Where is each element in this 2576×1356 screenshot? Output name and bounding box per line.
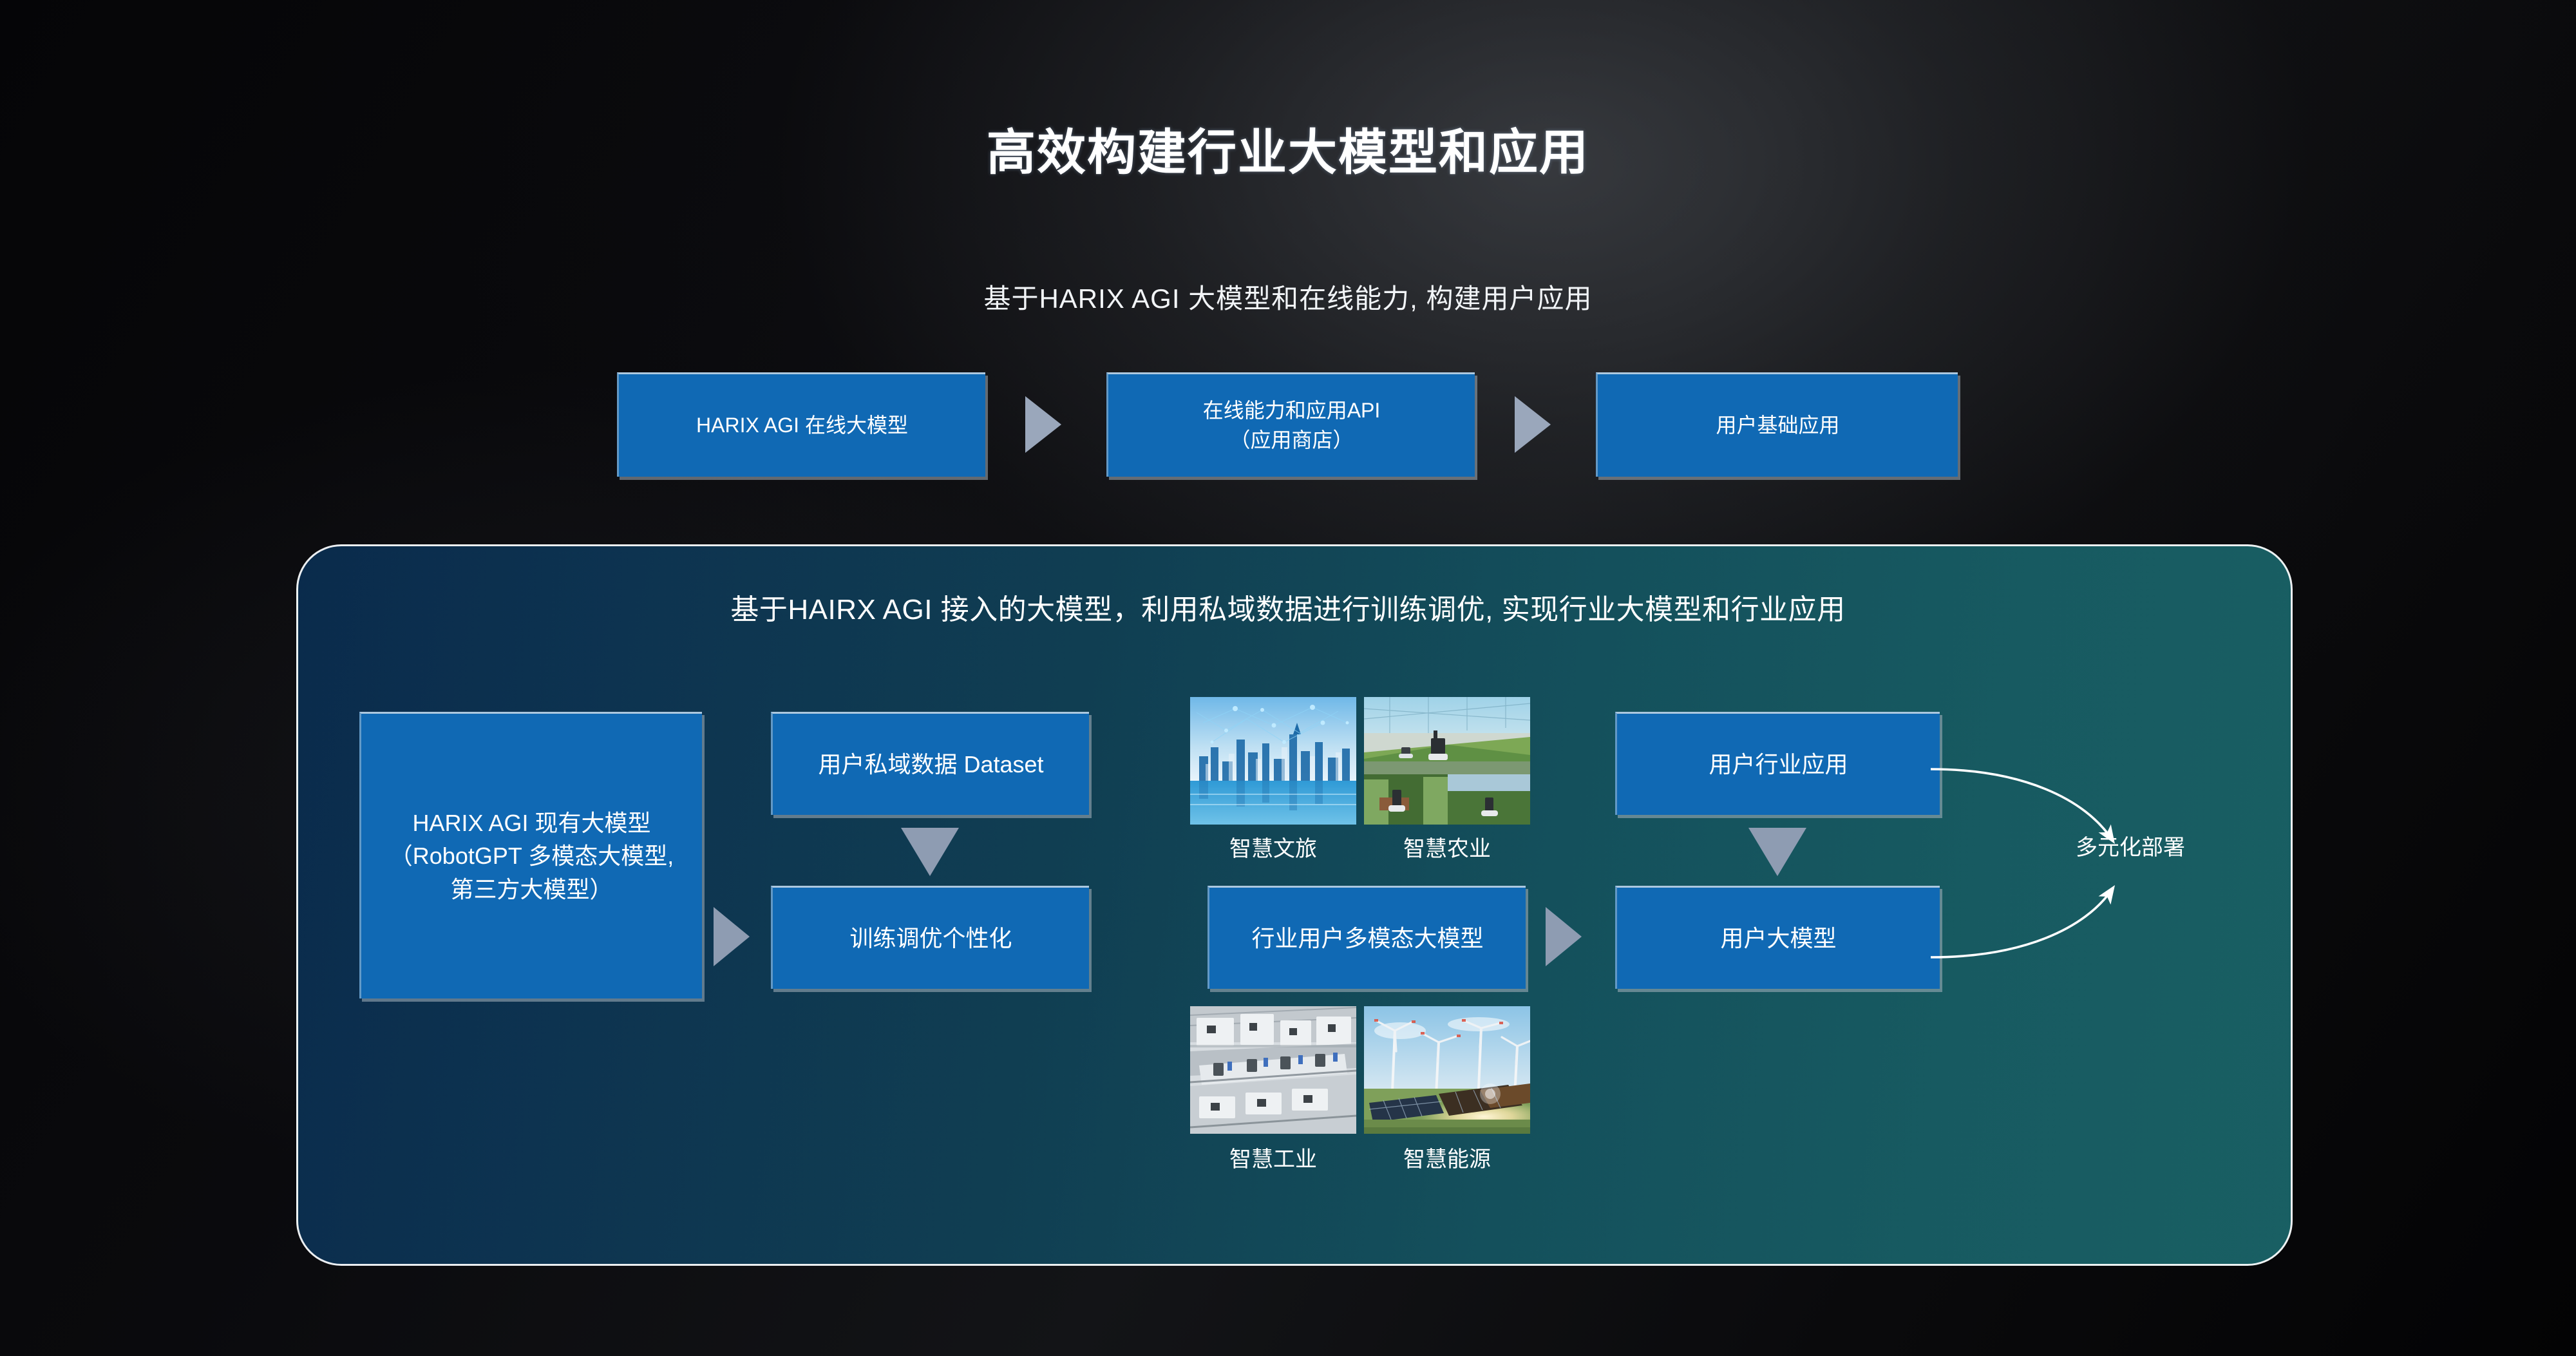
thumbnail-caption-energy: 智慧能源 [1351, 1141, 1543, 1173]
thumbnail-caption-travel: 智慧文旅 [1177, 831, 1369, 863]
top-flow-box-harix-online-model[interactable]: HARIX AGI 在线大模型 [617, 372, 985, 477]
top-flow-box-1-label: HARIX AGI 在线大模型 [696, 411, 908, 440]
slide-canvas: 高效构建行业大模型和应用 基于HARIX AGI 大模型和在线能力, 构建用户应… [0, 0, 2576, 1356]
panel-box-training-tuning[interactable]: 训练调优个性化 [771, 886, 1089, 989]
top-flow-box-user-base-app[interactable]: 用户基础应用 [1596, 372, 1958, 477]
page-subtitle: 基于HARIX AGI 大模型和在线能力, 构建用户应用 [0, 277, 2576, 316]
existing-model-line3: 第三方大模型） [390, 873, 674, 906]
panel-box-industry-multimodal-model[interactable]: 行业用户多模态大模型 [1207, 886, 1526, 989]
user-large-model-label: 用户大模型 [1720, 922, 1836, 955]
triangle-right-icon [714, 907, 750, 966]
triangle-down-icon [1748, 828, 1806, 876]
page-title: 高效构建行业大模型和应用 [0, 113, 2576, 184]
panel-box-existing-model[interactable]: HARIX AGI 现有大模型 （RobotGPT 多模态大模型, 第三方大模型… [359, 712, 702, 998]
thumbnail-caption-industry: 智慧工业 [1177, 1141, 1369, 1173]
user-industry-app-label: 用户行业应用 [1709, 748, 1848, 781]
chevron-right-icon [1515, 396, 1551, 453]
thumbnail-caption-agriculture: 智慧农业 [1351, 831, 1543, 863]
panel-box-user-large-model[interactable]: 用户大模型 [1615, 886, 1940, 989]
panel-box-private-dataset[interactable]: 用户私域数据 Dataset [771, 712, 1089, 815]
top-flow-box-online-capability-api[interactable]: 在线能力和应用API （应用商店） [1106, 372, 1475, 477]
top-flow-box-2-line1: 在线能力和应用API [1203, 396, 1381, 425]
private-dataset-label: 用户私域数据 Dataset [818, 748, 1043, 781]
training-tuning-label: 训练调优个性化 [849, 922, 1012, 955]
smart-city-image [1190, 697, 1356, 825]
smart-industry-image [1190, 1006, 1356, 1134]
deploy-label: 多元化部署 [2027, 830, 2233, 861]
smart-energy-image [1364, 1006, 1530, 1134]
panel-header-text: 基于HAIRX AGI 接入的大模型，利用私域数据进行训练调优, 实现行业大模型… [0, 586, 2576, 627]
triangle-down-icon [901, 828, 959, 876]
existing-model-line2: （RobotGPT 多模态大模型, [390, 839, 674, 872]
top-flow-box-2-line2: （应用商店） [1203, 426, 1381, 455]
smart-agriculture-image [1364, 697, 1530, 825]
triangle-right-icon [1546, 907, 1582, 966]
industry-multimodal-label: 行业用户多模态大模型 [1251, 922, 1483, 955]
top-flow-box-3-label: 用户基础应用 [1716, 411, 1839, 440]
chevron-right-icon [1025, 396, 1061, 453]
existing-model-line1: HARIX AGI 现有大模型 [390, 807, 674, 839]
panel-box-user-industry-app[interactable]: 用户行业应用 [1615, 712, 1940, 815]
